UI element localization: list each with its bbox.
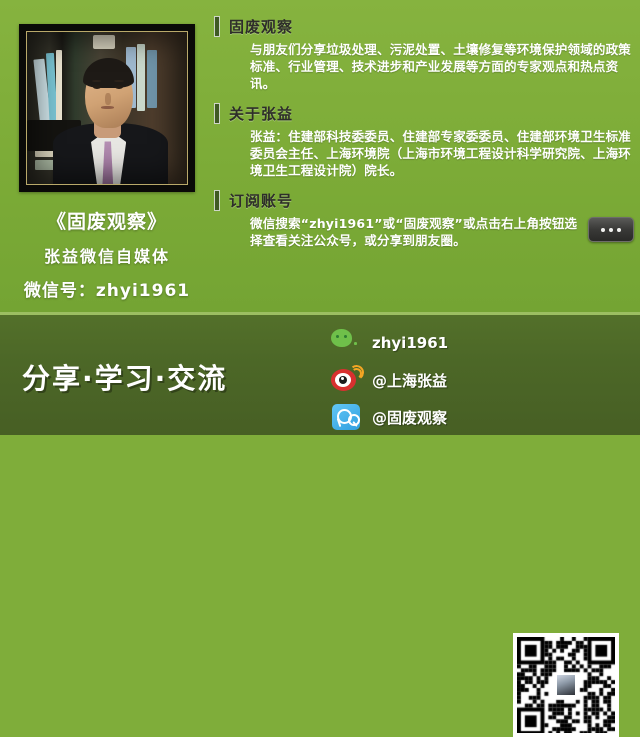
- poster-canvas: 《固废观察》 张益微信自媒体 微信号：zhyi1961 固废观察 与朋友们分享垃…: [0, 0, 640, 432]
- portrait-inner-border: [26, 31, 188, 185]
- social-label: @上海张益: [372, 370, 447, 391]
- wechat-icon: [330, 327, 364, 359]
- section-subscribe: 订阅账号 微信搜索“zhyi1961”或“固废观察”或点击右上角按钮选择查看关注…: [214, 188, 634, 249]
- social-label: zhyi1961: [372, 334, 448, 352]
- bottom-bar: 分享·学习·交流 zhyi1961: [0, 312, 640, 435]
- section-body: 与朋友们分享垃圾处理、污泥处置、土壤修复等环境保护领域的政策标准、行业管理、技术…: [250, 41, 634, 92]
- section-body: 张益：住建部科技委委员、住建部专家委委员、住建部环境卫生标准委员会主任、上海环境…: [250, 128, 634, 179]
- top-panel: 《固废观察》 张益微信自媒体 微信号：zhyi1961 固废观察 与朋友们分享垃…: [0, 0, 640, 312]
- portrait-frame: [19, 24, 195, 192]
- dot-icon: [609, 228, 613, 232]
- more-options-button[interactable]: [588, 217, 634, 242]
- section-about-author: 关于张益 张益：住建部科技委委员、住建部专家委委员、住建部环境卫生标准委员会主任…: [214, 101, 634, 179]
- caption-title: 《固废观察》: [0, 207, 214, 234]
- section-body-row: 微信搜索“zhyi1961”或“固废观察”或点击右上角按钮选择查看关注公众号，或…: [250, 215, 634, 249]
- dot-icon: [617, 228, 621, 232]
- portrait-image: [27, 32, 187, 184]
- qr-code-matrix: [517, 637, 615, 733]
- qr-code[interactable]: [513, 633, 619, 737]
- accent-bar-icon: [214, 16, 220, 37]
- info-sections: 固废观察 与朋友们分享垃圾处理、污泥处置、土壤修复等环境保护领域的政策标准、行业…: [214, 14, 634, 258]
- caption-subtitle: 张益微信自媒体: [0, 243, 214, 267]
- section-header: 关于张益: [214, 101, 634, 125]
- social-list: zhyi1961 @上海张益: [330, 325, 500, 436]
- section-body: 微信搜索“zhyi1961”或“固废观察”或点击右上角按钮选择查看关注公众号，或…: [250, 215, 580, 249]
- section-title: 订阅账号: [229, 190, 293, 211]
- section-header: 固废观察: [214, 14, 634, 38]
- caption-wechat-id: 微信号：zhyi1961: [0, 276, 214, 301]
- section-header: 订阅账号: [214, 188, 634, 212]
- dot-icon: [601, 228, 605, 232]
- social-row-weibo[interactable]: @上海张益: [330, 362, 500, 398]
- qr-center-avatar: [555, 673, 577, 697]
- search-icon: [330, 401, 364, 433]
- section-title: 固废观察: [229, 16, 293, 37]
- accent-bar-icon: [214, 103, 220, 124]
- section-title: 关于张益: [229, 103, 293, 124]
- section-about-channel: 固废观察 与朋友们分享垃圾处理、污泥处置、土壤修复等环境保护领域的政策标准、行业…: [214, 14, 634, 92]
- social-label: @固废观察: [372, 407, 447, 428]
- weibo-icon: [330, 364, 364, 396]
- social-row-wechat[interactable]: zhyi1961: [330, 325, 500, 361]
- accent-bar-icon: [214, 190, 220, 211]
- slogan-text: 分享·学习·交流: [22, 357, 312, 397]
- social-row-search[interactable]: @固废观察: [330, 399, 500, 435]
